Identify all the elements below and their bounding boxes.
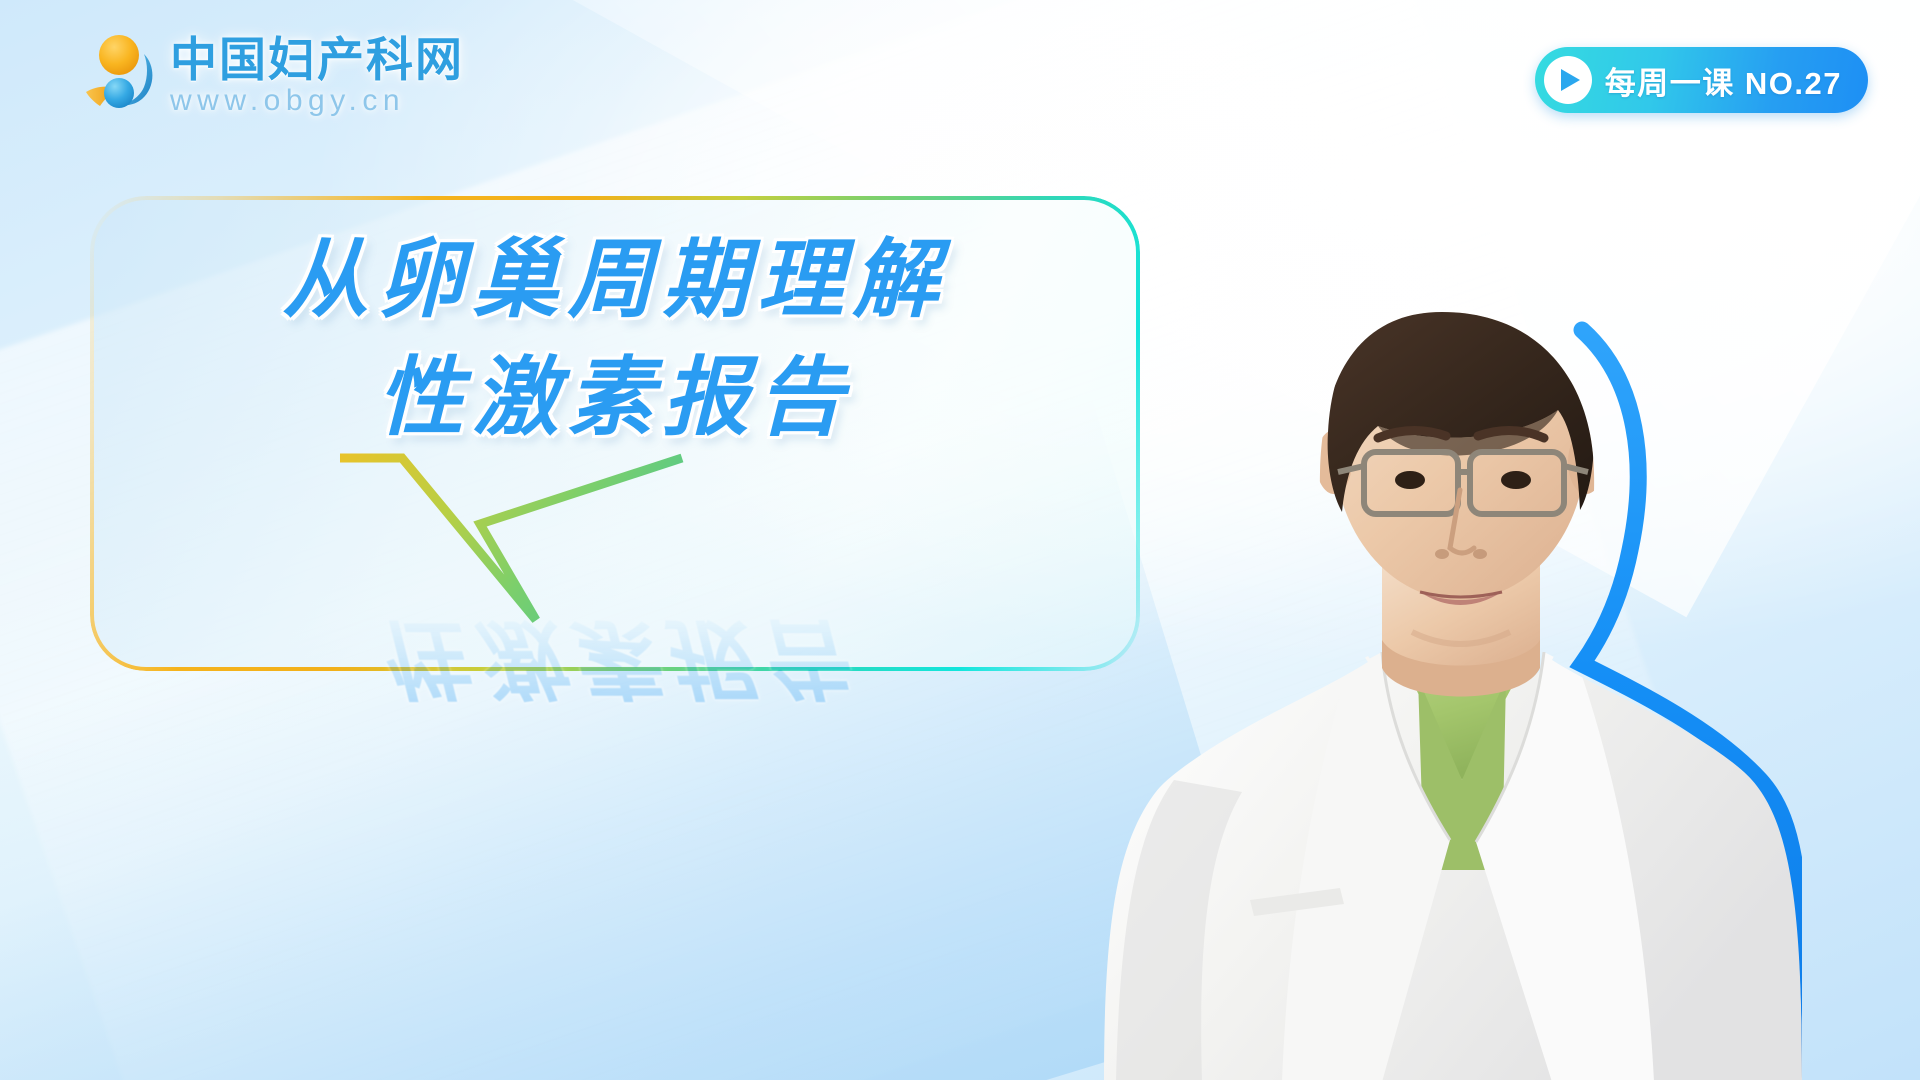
page-title-reflection: 性激素报告 [90, 600, 1140, 714]
presenter-photo [1082, 80, 1802, 1080]
page-title-line-1: 从卵巢周期理解 [90, 224, 1140, 338]
brand-name-cn: 中国妇产科网 [170, 36, 464, 84]
obgy-person-logo-icon [82, 32, 160, 120]
brand-logo[interactable]: 中国妇产科网 www.obgy.cn [82, 32, 464, 120]
page-title-line-2: 性激素报告 [90, 342, 1140, 456]
page-title: 从卵巢周期理解 性激素报告 性激素报告 [90, 196, 1140, 455]
brand-url: www.obgy.cn [170, 86, 464, 116]
brand-logo-text: 中国妇产科网 www.obgy.cn [170, 32, 464, 116]
